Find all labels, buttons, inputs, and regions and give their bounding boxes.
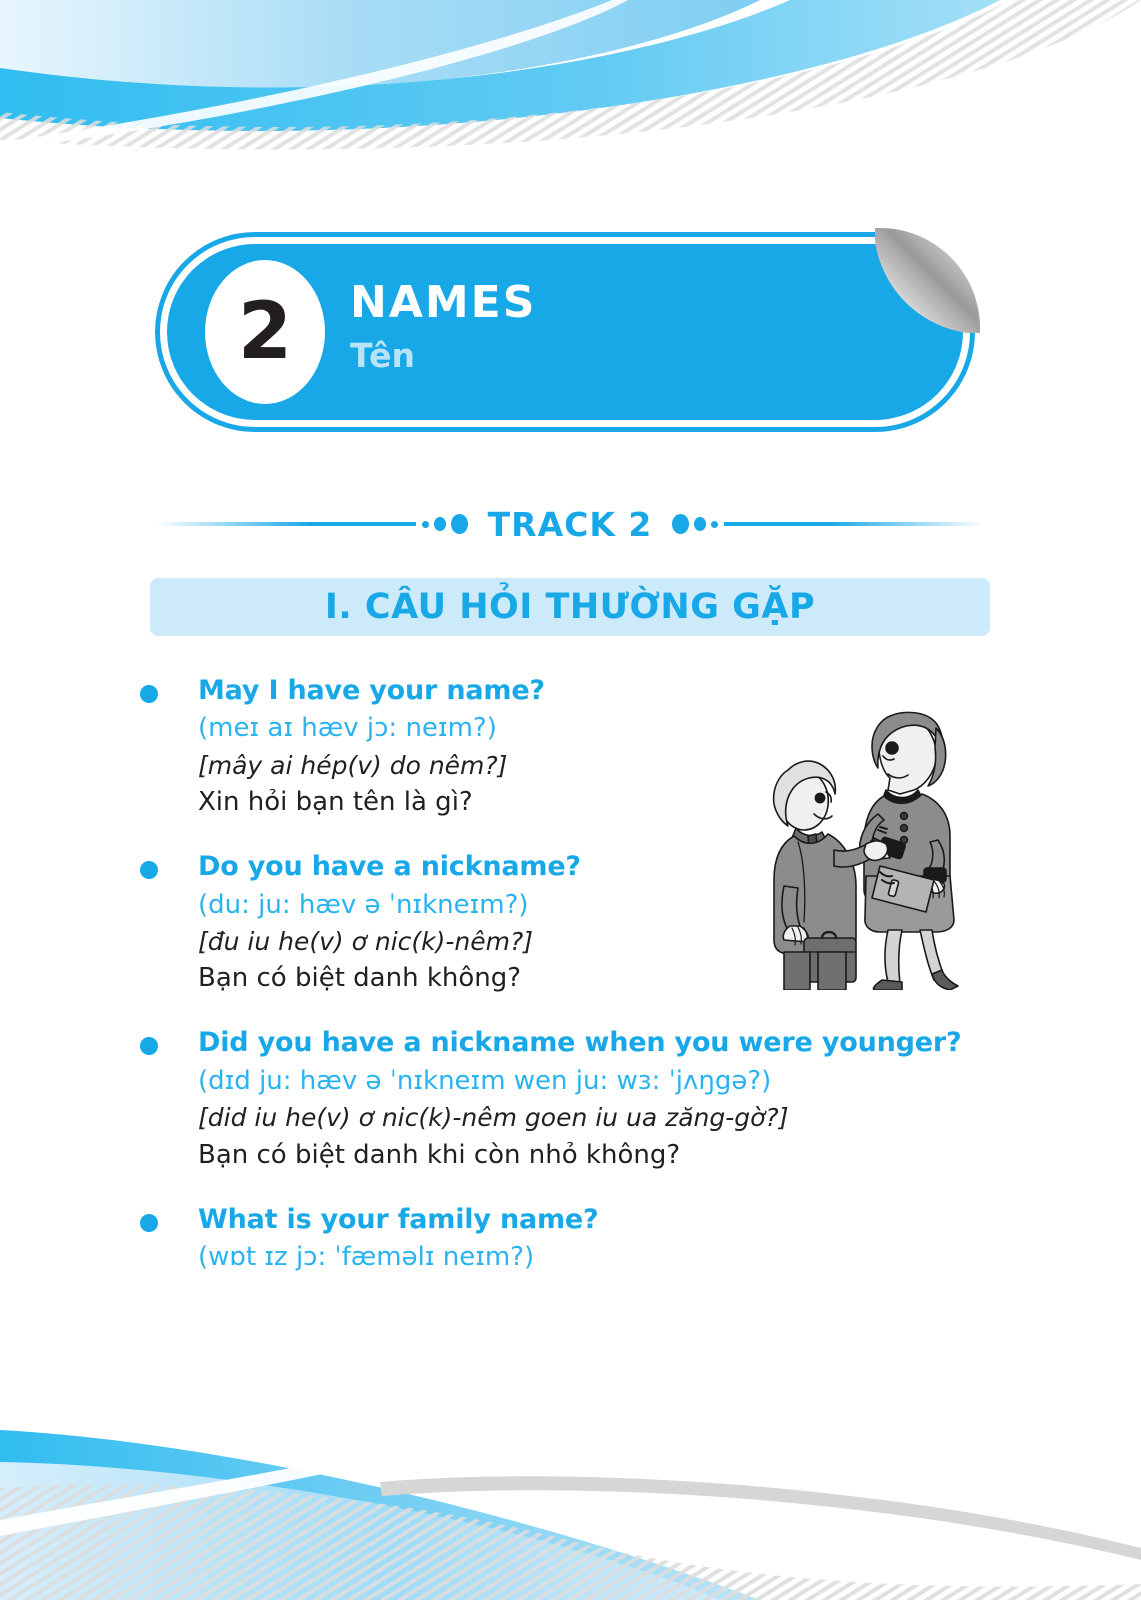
track-dots-right (666, 514, 724, 534)
question-ipa: (du: ju: hæv ə ˈnɪkneɪm?) (198, 887, 1020, 924)
chapter-title: NAMES (350, 280, 536, 326)
chapter-subtitle: Tên (350, 336, 536, 375)
dot-large-icon (672, 514, 689, 534)
bottom-decorative-wave (0, 1370, 1141, 1600)
bullet-column (140, 1024, 198, 1174)
question-guide: [mây ai hép(v) do nêm?] (198, 748, 1020, 785)
bullet-column (140, 848, 198, 998)
question-entry: Did you have a nickname when you were yo… (140, 1024, 1020, 1174)
question-english: May I have your name? (198, 672, 1020, 710)
question-guide: [đu iu he(v) ơ nic(k)-nêm?] (198, 924, 1020, 961)
page-number-badge: 8 (98, 1452, 160, 1514)
page-number-text: 8 (120, 1469, 137, 1498)
track-dots-left (416, 514, 474, 534)
track-divider: TRACK 2 (155, 498, 985, 550)
question-body: May I have your name? (meɪ aɪ hæv jɔ: ne… (198, 672, 1020, 822)
dot-medium-icon (694, 517, 706, 531)
chapter-banner: 2 NAMES Tên (155, 232, 975, 432)
top-decorative-wave (0, 0, 1141, 175)
book-page: 2 NAMES Tên TRACK 2 I. CÂU HỎI THƯỜNG GẶ… (0, 0, 1141, 1600)
question-english: Did you have a nickname when you were yo… (198, 1024, 1020, 1062)
dot-large-icon (451, 514, 468, 534)
question-vietnamese: Bạn có biệt danh khi còn nhỏ không? (198, 1137, 1020, 1175)
dot-small-icon (711, 521, 718, 528)
question-guide: [did iu he(v) ơ nic(k)-nêm goen iu ua ză… (198, 1100, 1020, 1137)
question-entry: What is your family name? (wɒt ɪz jɔ: ˈf… (140, 1201, 1020, 1277)
track-line-left (155, 522, 416, 526)
bullet-icon (140, 1214, 158, 1232)
question-body: What is your family name? (wɒt ɪz jɔ: ˈf… (198, 1201, 1020, 1277)
question-entry: Do you have a nickname? (du: ju: hæv ə ˈ… (140, 848, 1020, 998)
bullet-column (140, 672, 198, 822)
bullet-column (140, 1201, 198, 1277)
question-english: Do you have a nickname? (198, 848, 1020, 886)
page-curl-decoration (875, 228, 980, 333)
question-vietnamese: Xin hỏi bạn tên là gì? (198, 784, 1020, 822)
question-ipa: (wɒt ɪz jɔ: ˈfæməlɪ neɪm?) (198, 1239, 1020, 1276)
track-line-right (724, 522, 985, 526)
dot-small-icon (422, 521, 429, 528)
chapter-number: 2 (238, 293, 292, 371)
track-label: TRACK 2 (474, 505, 667, 544)
section-heading-text: I. CÂU HỎI THƯỜNG GẶP (325, 587, 815, 627)
chapter-number-badge: 2 (205, 260, 325, 404)
question-vietnamese: Bạn có biệt danh không? (198, 960, 1020, 998)
question-list: May I have your name? (meɪ aɪ hæv jɔ: ne… (140, 672, 1020, 1302)
section-heading-band: I. CÂU HỎI THƯỜNG GẶP (150, 578, 990, 636)
question-entry: May I have your name? (meɪ aɪ hæv jɔ: ne… (140, 672, 1020, 822)
question-english: What is your family name? (198, 1201, 1020, 1239)
question-body: Do you have a nickname? (du: ju: hæv ə ˈ… (198, 848, 1020, 998)
bullet-icon (140, 861, 158, 879)
banner-text-group: NAMES Tên (350, 280, 536, 375)
question-body: Did you have a nickname when you were yo… (198, 1024, 1020, 1174)
bullet-icon (140, 1037, 158, 1055)
dot-medium-icon (434, 517, 446, 531)
question-ipa: (dɪd ju: hæv ə ˈnɪkneɪm wen ju: wɜ: ˈjʌŋ… (198, 1063, 1020, 1100)
bullet-icon (140, 685, 158, 703)
question-ipa: (meɪ aɪ hæv jɔ: neɪm?) (198, 710, 1020, 747)
